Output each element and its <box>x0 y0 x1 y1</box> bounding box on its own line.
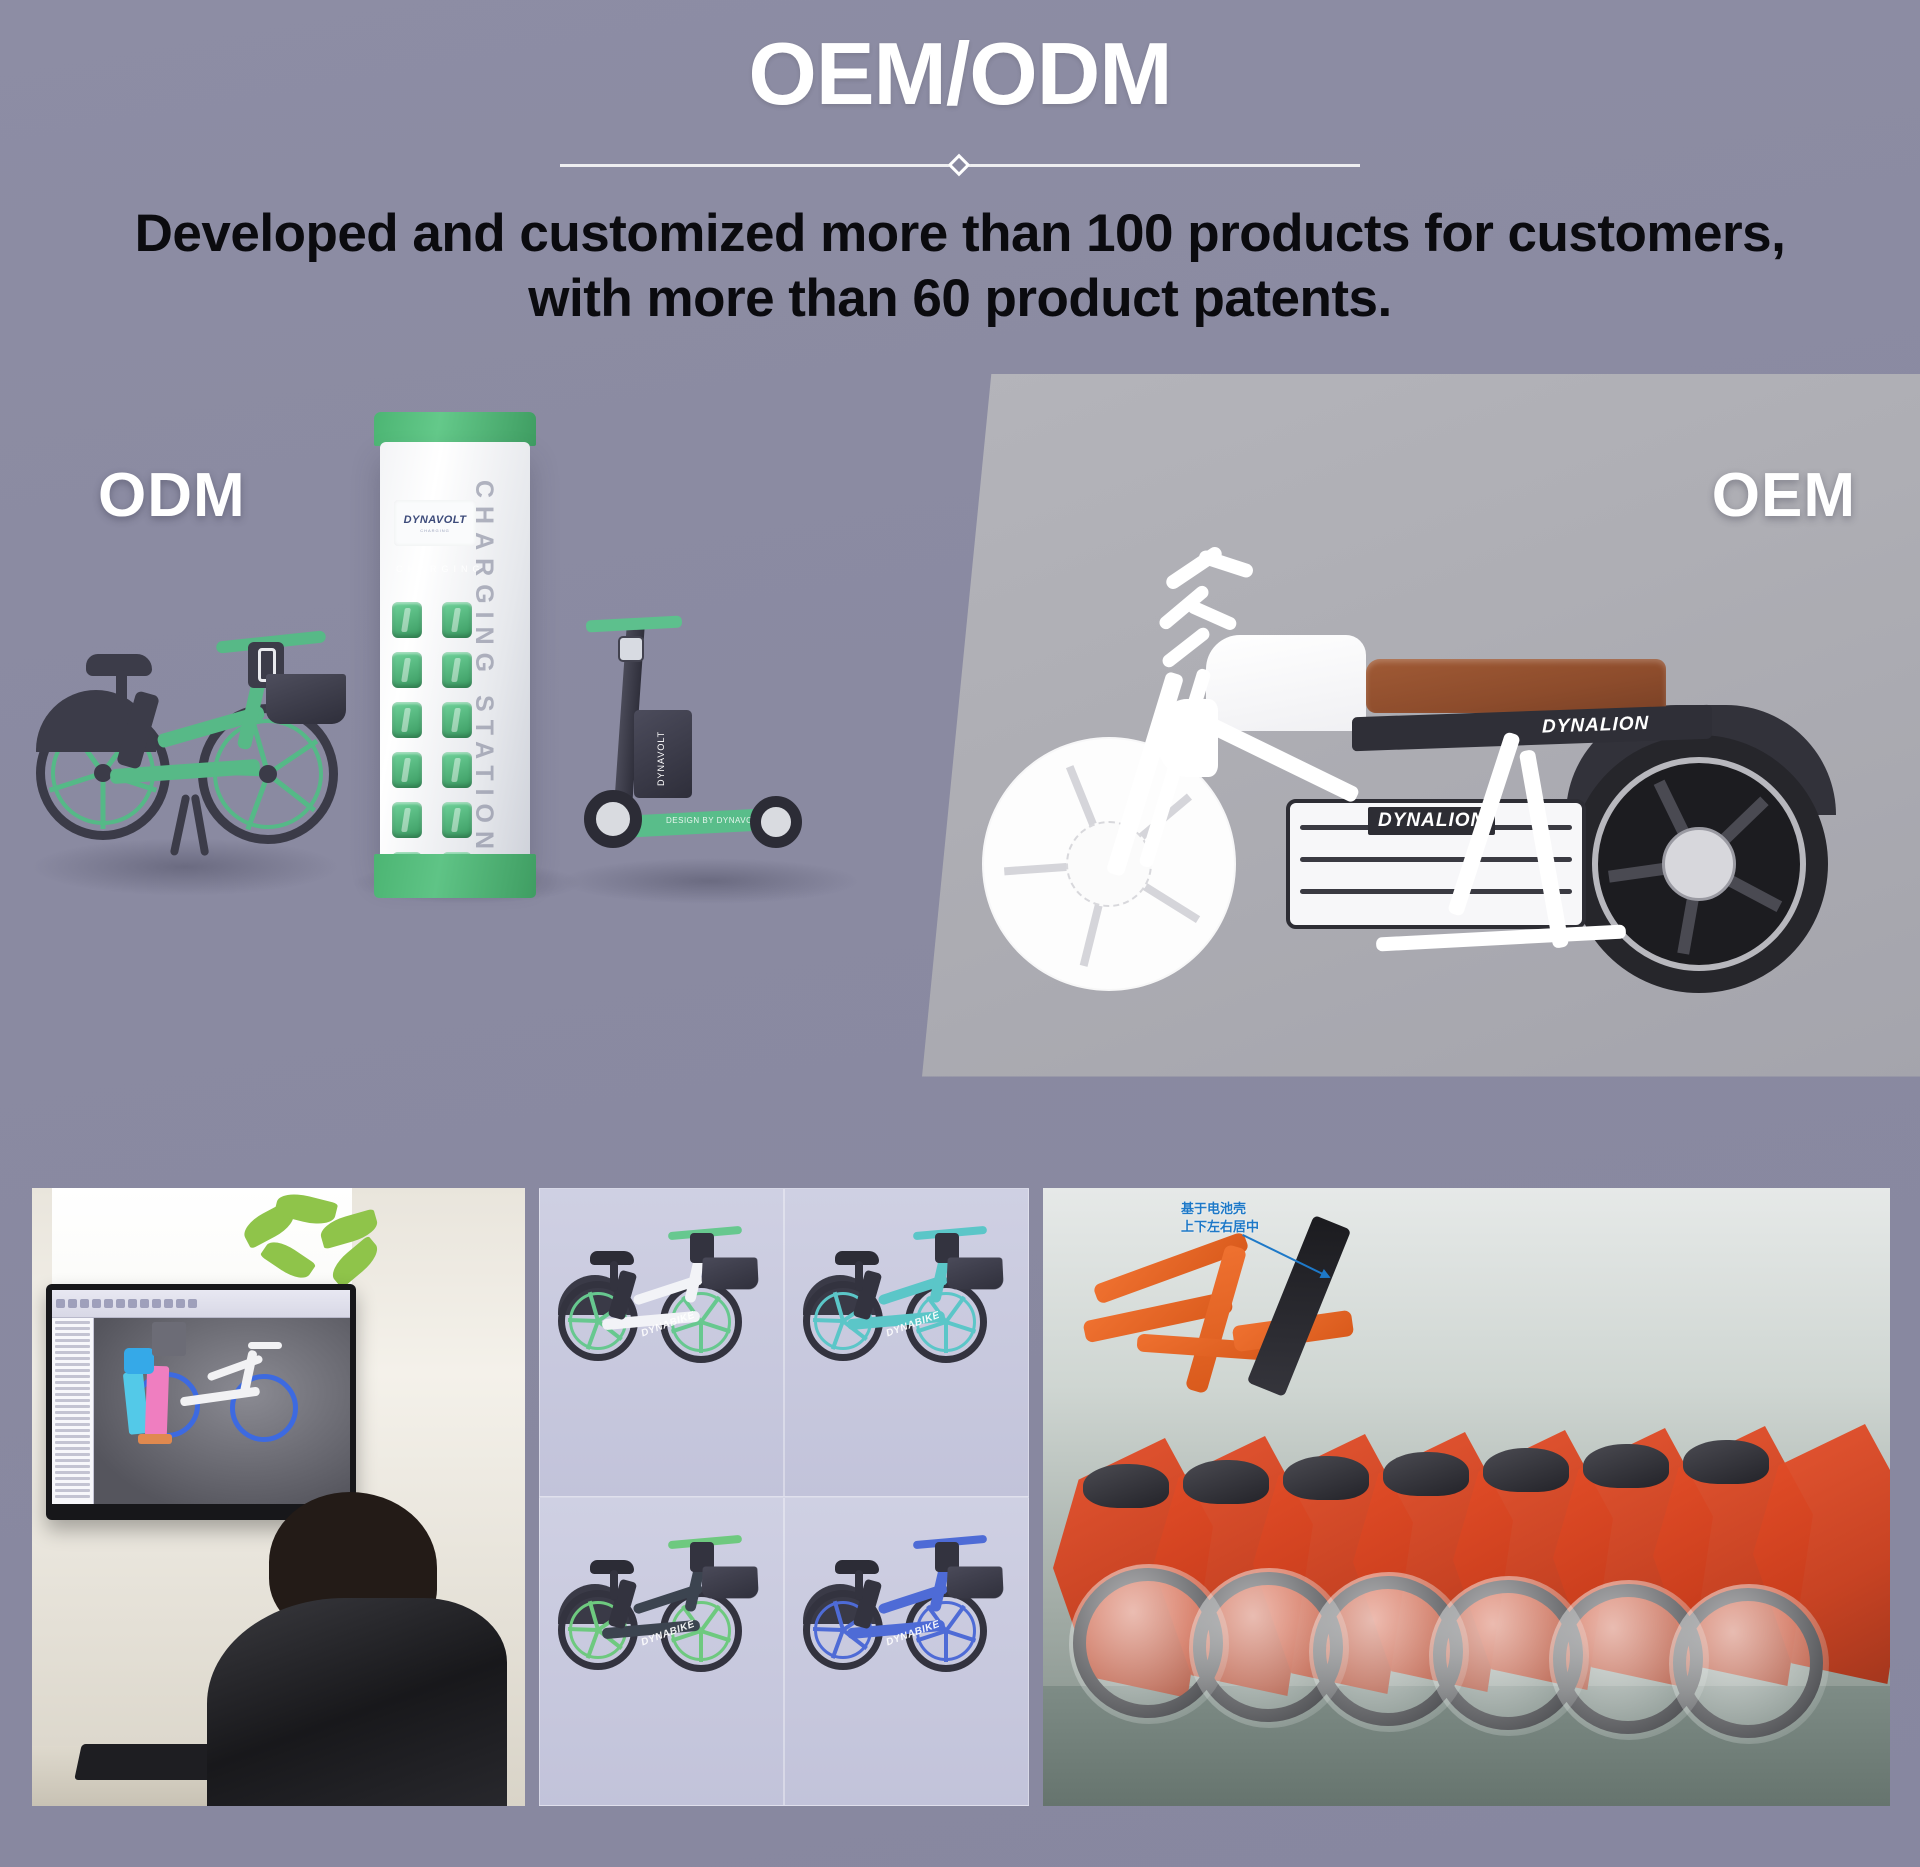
battery-slot-rail <box>1247 1215 1352 1397</box>
gallery-tile-colorway-grid[interactable]: DYNABIKE <box>539 1188 1029 1806</box>
toolbar-icon[interactable] <box>164 1299 173 1308</box>
spoke <box>944 1631 948 1662</box>
colorway-cell-top-right[interactable]: DYNABIKE <box>784 1188 1029 1497</box>
oem-odm-marketing-page: OEM/ODM Developed and customized more th… <box>0 0 1920 1867</box>
mb-seatpost <box>855 1570 863 1600</box>
mini-bike: DYNABIKE <box>556 1223 766 1363</box>
bike-kickstand <box>170 794 191 856</box>
moto-rear-wheel <box>1570 735 1828 993</box>
moto-rear-brake-disc <box>1662 827 1736 901</box>
station-top-cap <box>374 412 536 446</box>
station-logo-plate: DYNAVOLT CHARGING <box>394 500 476 546</box>
toolbar-icon[interactable] <box>92 1299 101 1308</box>
odm-label: ODM <box>98 460 246 531</box>
odm-electric-scooter: DYNAVOLT DESIGN BY DYNAVOLT <box>560 578 880 878</box>
battery-slot[interactable] <box>392 752 422 788</box>
scooter-deck-text: DESIGN BY DYNAVOLT <box>666 816 763 825</box>
scooter-brand: DYNAVOLT <box>656 731 666 786</box>
scooter-front-wheel <box>584 790 642 848</box>
oem-label: OEM <box>1712 460 1856 531</box>
mb-basket <box>701 1567 759 1599</box>
station-brand-sub: CHARGING <box>420 528 450 533</box>
bike-seatpost <box>116 670 127 718</box>
cad-body <box>52 1318 350 1504</box>
vent-slat <box>1300 889 1572 894</box>
mini-bike: DYNABIKE <box>556 1532 766 1672</box>
factory-saddle <box>1383 1452 1469 1496</box>
toolbar-icon[interactable] <box>152 1299 161 1308</box>
scooter-display <box>618 636 644 662</box>
page-title: OEM/ODM <box>0 0 1920 118</box>
battery-slot[interactable] <box>442 752 472 788</box>
page-header: OEM/ODM Developed and customized more th… <box>0 0 1920 331</box>
mb-basket <box>946 1258 1004 1290</box>
cad-part-blue <box>124 1348 154 1374</box>
odm-charging-station: DYNAVOLT CHARGING CHARGING <box>380 406 550 906</box>
toolbar-icon[interactable] <box>128 1299 137 1308</box>
vent-slat <box>1300 857 1572 862</box>
toolbar-icon[interactable] <box>80 1299 89 1308</box>
toolbar-icon[interactable] <box>188 1299 197 1308</box>
spoke <box>944 1322 948 1353</box>
factory-saddle <box>1483 1448 1569 1492</box>
battery-slot[interactable] <box>442 802 472 838</box>
station-body: DYNAVOLT CHARGING CHARGING <box>380 442 530 862</box>
page-subtitle: Developed and customized more than 100 p… <box>0 202 1920 331</box>
odm-showcase: ODM <box>0 438 910 1138</box>
cad-handlebar <box>248 1342 282 1349</box>
toolbar-icon[interactable] <box>104 1299 113 1308</box>
person-jacket <box>207 1598 507 1806</box>
designer-person <box>235 1486 525 1806</box>
battery-slot[interactable] <box>392 652 422 688</box>
colorway-grid: DYNABIKE <box>539 1188 1029 1806</box>
bar-segment <box>1197 549 1255 580</box>
subtitle-line-1: Developed and customized more than 100 p… <box>20 202 1900 267</box>
station-base <box>374 854 536 898</box>
scooter-rear-wheel <box>750 796 802 848</box>
scooter-handlebar <box>586 615 682 632</box>
gallery-tile-cad-workstation[interactable] <box>32 1188 525 1806</box>
cad-toolbar[interactable] <box>52 1290 350 1318</box>
factory-saddle <box>1583 1444 1669 1488</box>
colorway-cell-bottom-right[interactable]: DYNABIKE <box>784 1497 1029 1806</box>
toolbar-icon[interactable] <box>68 1299 77 1308</box>
mb-seatpost <box>610 1570 618 1600</box>
cad-screen[interactable] <box>52 1290 350 1504</box>
toolbar-icon[interactable] <box>176 1299 185 1308</box>
moto-rack-badge: DYNALION <box>1542 713 1649 739</box>
front-hub <box>259 765 277 783</box>
battery-slot[interactable] <box>392 802 422 838</box>
mb-seatpost <box>610 1261 618 1291</box>
annotation-text: 基于电池壳 上下左右居中 <box>1181 1200 1259 1235</box>
gallery-tile-factory-line[interactable]: 基于电池壳 上下左右居中 <box>1043 1188 1890 1806</box>
battery-slot[interactable] <box>442 652 472 688</box>
showcase-row: ODM <box>0 438 1920 1166</box>
spoke <box>699 1631 703 1662</box>
cad-front-wheel <box>230 1374 298 1442</box>
bar-segment <box>1186 599 1239 632</box>
battery-slot[interactable] <box>392 702 422 738</box>
factory-saddle <box>1083 1464 1169 1508</box>
cad-part-pink <box>145 1366 169 1437</box>
protective-wrap <box>1669 1584 1829 1744</box>
cad-feature-tree[interactable] <box>52 1318 94 1504</box>
station-brand: DYNAVOLT <box>404 514 467 526</box>
mb-basket <box>701 1258 759 1290</box>
cad-part-grey <box>152 1322 186 1356</box>
oem-showcase: OEM <box>916 374 1920 1102</box>
toolbar-icon[interactable] <box>140 1299 149 1308</box>
cad-part-base <box>138 1434 172 1444</box>
factory-saddle <box>1283 1456 1369 1500</box>
cad-viewport[interactable] <box>94 1318 350 1504</box>
photo-gallery-row: DYNABIKE <box>32 1188 1890 1806</box>
factory-saddle <box>1683 1440 1769 1484</box>
moto-seat <box>1366 659 1666 713</box>
battery-slot[interactable] <box>442 602 472 638</box>
mb-basket <box>946 1567 1004 1599</box>
spoke <box>699 1322 703 1353</box>
mb-seatpost <box>855 1261 863 1291</box>
subtitle-line-2: with more than 60 product patents. <box>20 267 1900 332</box>
highlighted-orange-frame: 基于电池壳 上下左右居中 <box>1083 1198 1373 1408</box>
oem-electric-motorcycle: DYNALION DYNALION <box>956 549 1856 1029</box>
diamond-icon <box>948 154 971 177</box>
battery-slot[interactable] <box>442 702 472 738</box>
toolbar-icon[interactable] <box>116 1299 125 1308</box>
colorway-cell-bottom-left[interactable]: DYNABIKE <box>539 1497 784 1806</box>
mini-bike: DYNABIKE <box>801 1223 1011 1363</box>
station-side-text: CHARGING STATION <box>469 480 498 810</box>
toolbar-icon[interactable] <box>56 1299 65 1308</box>
factory-saddle <box>1183 1460 1269 1504</box>
bike-basket <box>266 674 346 724</box>
moto-headlight <box>1156 699 1218 777</box>
odm-shared-bike <box>30 598 350 868</box>
colorway-cell-top-left[interactable]: DYNABIKE <box>539 1188 784 1497</box>
battery-slot[interactable] <box>392 602 422 638</box>
bar-segment <box>1160 625 1212 670</box>
ornamental-divider <box>560 154 1360 176</box>
moto-handlebars <box>1152 557 1312 677</box>
mini-bike: DYNABIKE <box>801 1532 1011 1672</box>
computer-monitor[interactable] <box>46 1284 356 1520</box>
